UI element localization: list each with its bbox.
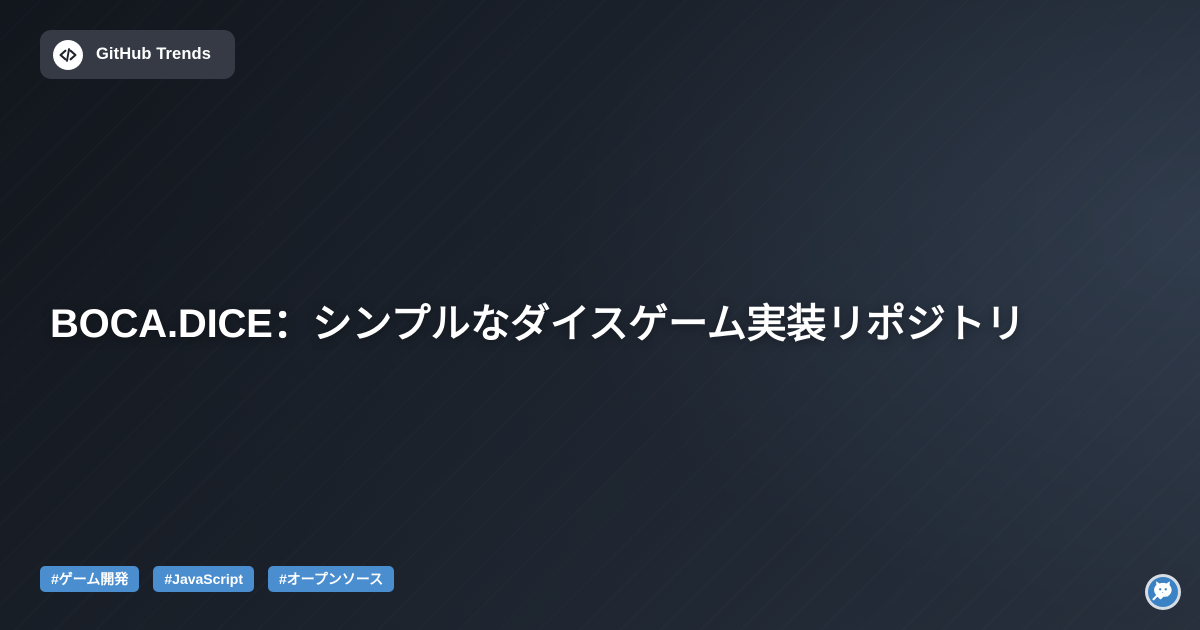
brand-badge[interactable]: GitHub Trends — [40, 30, 235, 79]
tag-item[interactable]: #JavaScript — [153, 566, 254, 592]
page-title: BOCA.DICE：シンプルなダイスゲーム実装リポジトリ — [50, 298, 1140, 351]
tag-item[interactable]: #オープンソース — [268, 566, 394, 592]
brand-name: GitHub Trends — [96, 45, 211, 64]
cat-trend-logo-icon — [1144, 573, 1182, 611]
code-brackets-icon — [53, 40, 83, 70]
tag-item[interactable]: #ゲーム開発 — [40, 566, 139, 592]
og-card: GitHub Trends BOCA.DICE：シンプルなダイスゲーム実装リポジ… — [0, 0, 1200, 630]
tag-list: #ゲーム開発 #JavaScript #オープンソース — [40, 566, 394, 592]
